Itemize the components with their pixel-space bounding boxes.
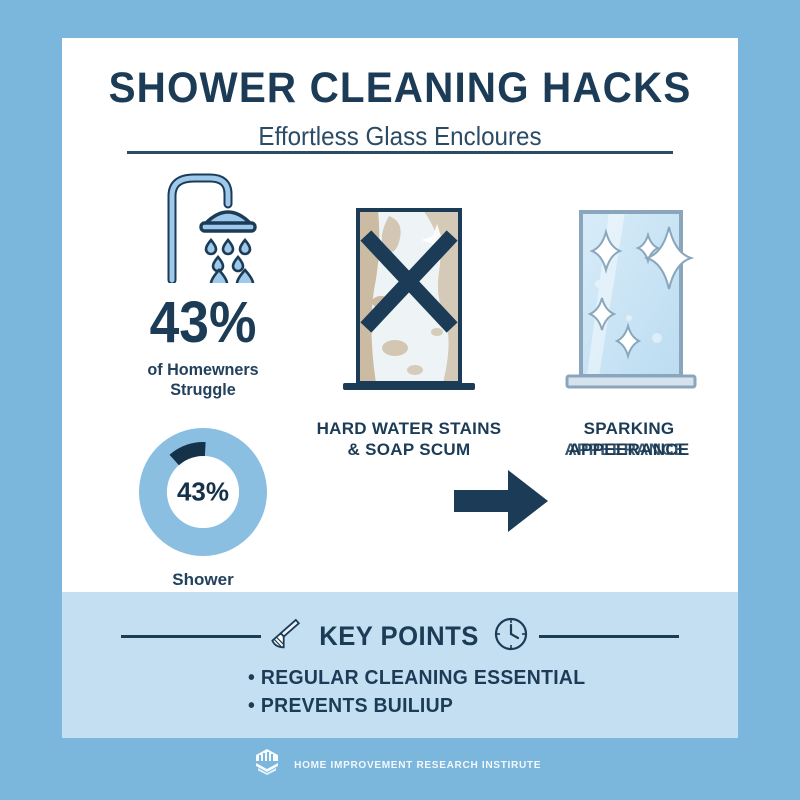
brush-icon <box>271 616 305 657</box>
panel-caption-clean-overlay: APPEERANCE <box>510 439 738 460</box>
list-item-label: PREVENTS BUILIUP <box>261 695 453 717</box>
list-item: •REGULAR CLEANING ESSENTIAL <box>248 664 723 692</box>
clock-icon <box>493 616 529 657</box>
donut-chart: 43% <box>137 426 269 558</box>
page-subtitle: Effortless Glass Encloures <box>86 113 715 152</box>
panel-caption-clean-line1: SPARKING <box>584 419 675 438</box>
key-points-rule-left <box>121 635 261 638</box>
shower-head-icon <box>88 168 318 288</box>
list-item-label: REGULAR CLEANING ESSENTIAL <box>261 667 585 689</box>
left-stat-column: 43% of Homewners Struggle <box>88 168 318 400</box>
institute-logo-icon <box>254 748 280 781</box>
key-points-title: KEY POINTS <box>319 621 479 652</box>
sparkling-glass-door-icon <box>539 400 719 417</box>
bullet-glyph: • <box>248 695 255 717</box>
panel-caption-clean: SPARKING APPEERANCE APPEERANCE <box>514 418 738 461</box>
footer: HOME IMPROVEMENT RESEARCH INSTIRUTE <box>0 748 800 781</box>
title-divider <box>127 151 673 154</box>
stat-label-line1: of Homewners <box>147 360 258 379</box>
donut-label-line1: Shower <box>172 570 233 589</box>
right-arrow-icon <box>452 468 550 539</box>
panel-caption-dirty-line2: & SOAP SCUM <box>348 440 471 459</box>
header: SHOWER CLEANING HACKS Effortless Glass E… <box>62 38 738 152</box>
key-points-header: KEY POINTS <box>62 616 738 657</box>
infographic-poster: SHOWER CLEANING HACKS Effortless Glass E… <box>0 0 800 800</box>
bullet-glyph: • <box>248 667 255 689</box>
panel-clean-glass: SPARKING APPEERANCE APPEERANCE <box>514 198 738 461</box>
key-points-list: •REGULAR CLEANING ESSENTIAL •PREVENTS BU… <box>62 664 738 721</box>
content-card: SHOWER CLEANING HACKS Effortless Glass E… <box>62 38 738 738</box>
page-title: SHOWER CLEANING HACKS <box>82 38 717 113</box>
donut-center-value: 43% <box>177 477 229 508</box>
panel-caption-dirty: HARD WATER STAINS & SOAP SCUM <box>294 418 524 461</box>
stat-label: of Homewners Struggle <box>94 360 313 400</box>
panel-dirty-glass: HARD WATER STAINS & SOAP SCUM <box>294 198 524 461</box>
list-item: •PREVENTS BUILIUP <box>248 692 723 720</box>
dirty-glass-door-icon <box>319 400 499 417</box>
key-points-rule-right <box>539 635 679 638</box>
panel-caption-dirty-line1: HARD WATER STAINS <box>317 419 502 438</box>
donut-chart-block: 43% Shower Maintenance <box>88 426 318 611</box>
stat-label-line2: Struggle <box>170 380 236 399</box>
footer-text: HOME IMPROVEMENT RESEARCH INSTIRUTE <box>294 759 541 771</box>
stat-value: 43% <box>97 294 309 352</box>
key-points-section: KEY POINTS •REGULAR CLEANIN <box>62 592 738 738</box>
